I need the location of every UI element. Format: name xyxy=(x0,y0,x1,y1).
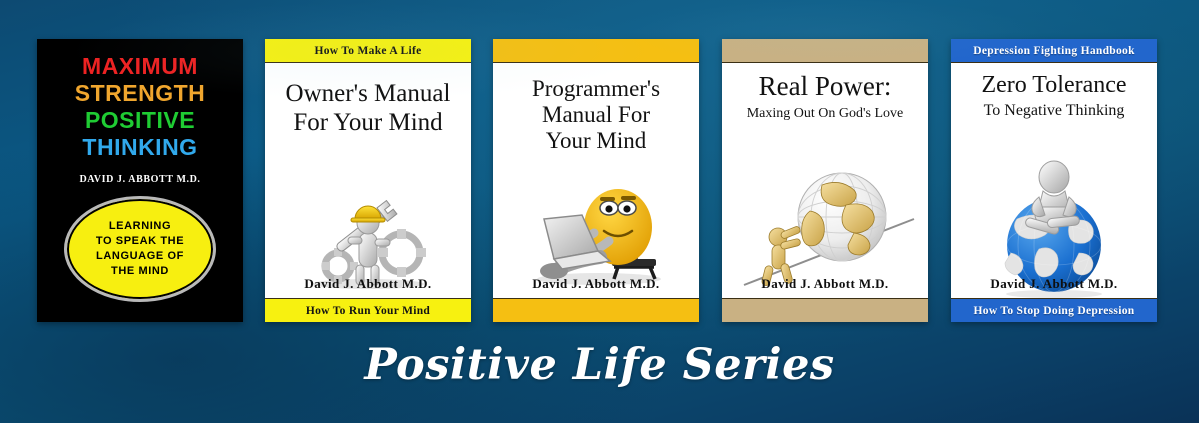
cover-author: David J. Abbott M.D. xyxy=(722,276,928,292)
book-cover-owners-manual-for-your-mind[interactable]: How To Make A Life Owner's Manual For Yo… xyxy=(265,39,471,322)
cover-band-bottom xyxy=(493,298,699,322)
title-line-1: Programmer's xyxy=(532,76,660,102)
cover-author: David J. Abbott M.D. xyxy=(265,276,471,292)
cover-body: How To Make A Life Owner's Manual For Yo… xyxy=(265,39,471,322)
series-caption: Positive Life Series xyxy=(0,340,1199,390)
title-line-2: Manual For xyxy=(532,102,660,128)
title-line-2: For Your Mind xyxy=(286,108,451,137)
cover-artwork-hardhat-figure-icon xyxy=(265,181,471,289)
cover-band-top: Depression Fighting Handbook xyxy=(951,39,1157,63)
title-line-1: Real Power: xyxy=(747,71,904,102)
title-line-1: Owner's Manual xyxy=(286,79,451,108)
cover-band-bottom: How To Run Your Mind xyxy=(265,298,471,322)
cover-artwork-bean-character-laptop-icon xyxy=(493,175,699,287)
cover-body: Real Power: Maxing Out On God's Love xyxy=(722,39,928,322)
cover-author: DAVID J. ABBOTT M.D. xyxy=(79,174,200,185)
cover-band-bottom: How To Stop Doing Depression xyxy=(951,298,1157,322)
book-cover-programmers-manual-for-your-mind[interactable]: Programmer's Manual For Your Mind xyxy=(493,39,699,322)
book-cover-zero-tolerance-to-negative-thinking[interactable]: Depression Fighting Handbook Zero Tolera… xyxy=(951,39,1157,322)
cover-band-bottom-text: How To Stop Doing Depression xyxy=(974,305,1135,317)
cover-title: MAXIMUM STRENGTH POSITIVE THINKING xyxy=(37,53,243,161)
title-line-2: STRENGTH xyxy=(37,80,243,107)
positive-life-series-banner: MAXIMUM STRENGTH POSITIVE THINKING DAVID… xyxy=(0,0,1199,423)
cover-content: Real Power: Maxing Out On God's Love xyxy=(722,63,928,298)
cover-band-top xyxy=(722,39,928,63)
title-line-3: Your Mind xyxy=(532,128,660,154)
title-line-4: THINKING xyxy=(37,134,243,161)
badge-line-1: LEARNING xyxy=(96,219,184,234)
cover-content: Zero Tolerance To Negative Thinking xyxy=(951,63,1157,298)
cover-band-bottom-text: How To Run Your Mind xyxy=(306,305,430,317)
cover-title: Real Power: Maxing Out On God's Love xyxy=(747,71,904,124)
cover-band-top-text: Depression Fighting Handbook xyxy=(973,45,1135,57)
cover-author: David J. Abbott M.D. xyxy=(493,276,699,292)
cover-body: MAXIMUM STRENGTH POSITIVE THINKING DAVID… xyxy=(37,39,243,322)
cover-band-top xyxy=(493,39,699,63)
cover-content: Programmer's Manual For Your Mind xyxy=(493,63,699,298)
cover-author: David J. Abbott M.D. xyxy=(951,276,1157,292)
cover-body: Programmer's Manual For Your Mind xyxy=(493,39,699,322)
book-cover-real-power[interactable]: Real Power: Maxing Out On God's Love xyxy=(722,39,928,322)
cover-title: Zero Tolerance To Negative Thinking xyxy=(981,71,1126,121)
cover-band-top: How To Make A Life xyxy=(265,39,471,63)
badge-line-3: LANGUAGE OF xyxy=(96,249,184,264)
book-cover-maximum-strength-positive-thinking[interactable]: MAXIMUM STRENGTH POSITIVE THINKING DAVID… xyxy=(37,39,243,322)
cover-title: Programmer's Manual For Your Mind xyxy=(532,76,660,154)
cover-badge-text: LEARNING TO SPEAK THE LANGUAGE OF THE MI… xyxy=(96,219,184,279)
cover-title: Owner's Manual For Your Mind xyxy=(286,79,451,137)
cover-badge-oval: LEARNING TO SPEAK THE LANGUAGE OF THE MI… xyxy=(64,196,216,302)
title-line-2: To Negative Thinking xyxy=(981,100,1126,121)
cover-artwork-golden-globe-uphill-icon xyxy=(722,163,928,293)
book-cover-row: MAXIMUM STRENGTH POSITIVE THINKING DAVID… xyxy=(0,0,1199,330)
title-line-1: MAXIMUM xyxy=(37,53,243,80)
badge-line-2: TO SPEAK THE xyxy=(96,234,184,249)
title-line-2: Maxing Out On God's Love xyxy=(747,104,904,124)
title-line-1: Zero Tolerance xyxy=(981,71,1126,99)
cover-band-top-text: How To Make A Life xyxy=(315,45,422,57)
cover-band-bottom xyxy=(722,298,928,322)
cover-body: Depression Fighting Handbook Zero Tolera… xyxy=(951,39,1157,322)
badge-line-4: THE MIND xyxy=(96,264,184,279)
cover-content: Owner's Manual For Your Mind xyxy=(265,63,471,298)
title-line-3: POSITIVE xyxy=(37,107,243,134)
